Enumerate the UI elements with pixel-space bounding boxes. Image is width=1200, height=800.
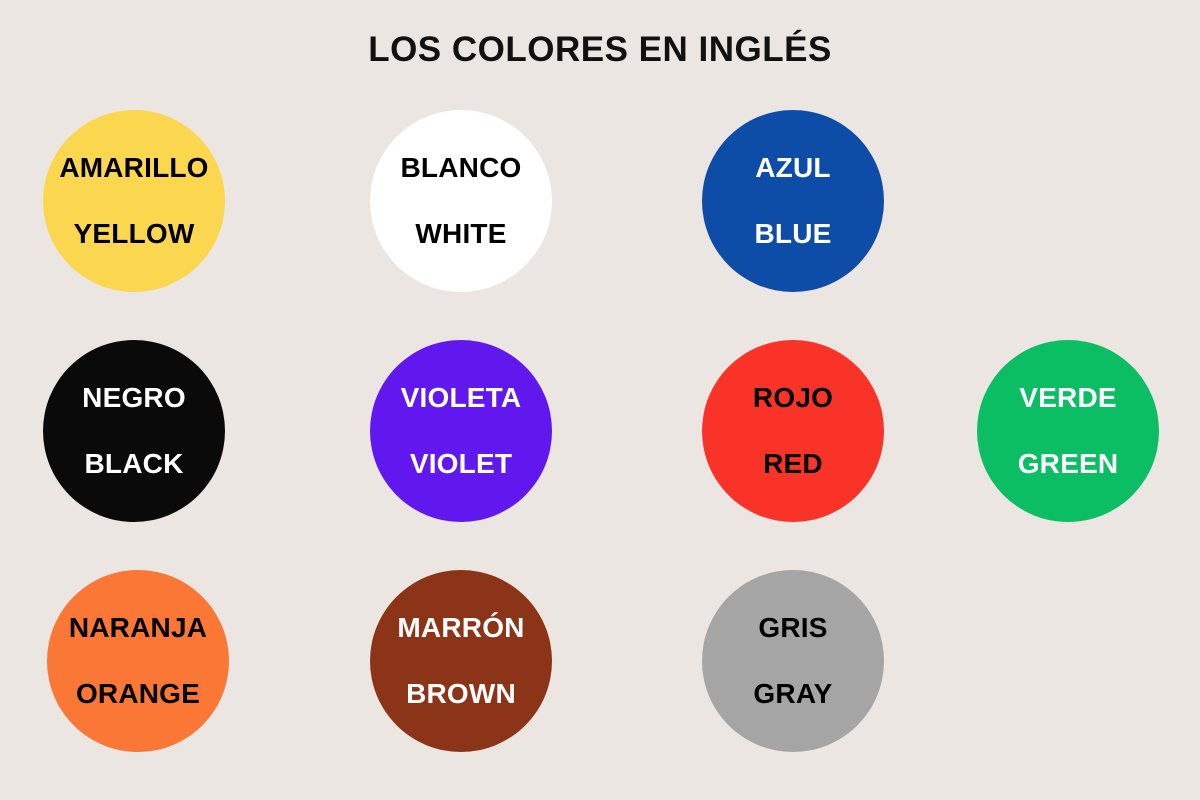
swatch-label-english: GREEN <box>1018 450 1119 478</box>
swatch-label-english: RED <box>763 450 823 478</box>
swatch-label-spanish: MARRÓN <box>397 614 524 642</box>
color-swatch-grid: AMARILLO YELLOW BLANCO WHITE AZUL BLUE N… <box>0 110 1200 780</box>
swatch-row-2: NEGRO BLACK VIOLETA VIOLET ROJO RED VERD… <box>0 340 1200 570</box>
color-swatch-brown[interactable]: MARRÓN BROWN <box>370 570 552 752</box>
color-vocabulary-poster: LOS COLORES EN INGLÉS AMARILLO YELLOW BL… <box>0 0 1200 800</box>
swatch-label-spanish: NEGRO <box>82 384 186 412</box>
swatch-label-spanish: BLANCO <box>401 154 522 182</box>
swatch-label-english: VIOLET <box>410 450 512 478</box>
color-swatch-red[interactable]: ROJO RED <box>702 340 884 522</box>
swatch-label-english: WHITE <box>415 220 506 248</box>
swatch-label-spanish: GRIS <box>758 614 827 642</box>
swatch-label-english: ORANGE <box>76 680 200 708</box>
swatch-label-spanish: ROJO <box>753 384 833 412</box>
color-swatch-black[interactable]: NEGRO BLACK <box>43 340 225 522</box>
color-swatch-violet[interactable]: VIOLETA VIOLET <box>370 340 552 522</box>
swatch-label-spanish: AMARILLO <box>59 154 208 182</box>
swatch-row-3: NARANJA ORANGE MARRÓN BROWN GRIS GRAY <box>0 570 1200 800</box>
swatch-label-english: YELLOW <box>74 220 195 248</box>
swatch-row-1: AMARILLO YELLOW BLANCO WHITE AZUL BLUE <box>0 110 1200 340</box>
color-swatch-green[interactable]: VERDE GREEN <box>977 340 1159 522</box>
page-title: LOS COLORES EN INGLÉS <box>0 30 1200 70</box>
swatch-label-english: BROWN <box>406 680 516 708</box>
color-swatch-blue[interactable]: AZUL BLUE <box>702 110 884 292</box>
swatch-label-spanish: AZUL <box>755 154 830 182</box>
swatch-label-english: BLUE <box>754 220 831 248</box>
swatch-label-spanish: NARANJA <box>69 614 207 642</box>
swatch-label-english: GRAY <box>753 680 832 708</box>
color-swatch-white[interactable]: BLANCO WHITE <box>370 110 552 292</box>
swatch-label-spanish: VIOLETA <box>401 384 522 412</box>
swatch-label-spanish: VERDE <box>1019 384 1116 412</box>
color-swatch-yellow[interactable]: AMARILLO YELLOW <box>43 110 225 292</box>
color-swatch-gray[interactable]: GRIS GRAY <box>702 570 884 752</box>
swatch-label-english: BLACK <box>85 450 184 478</box>
color-swatch-orange[interactable]: NARANJA ORANGE <box>47 570 229 752</box>
